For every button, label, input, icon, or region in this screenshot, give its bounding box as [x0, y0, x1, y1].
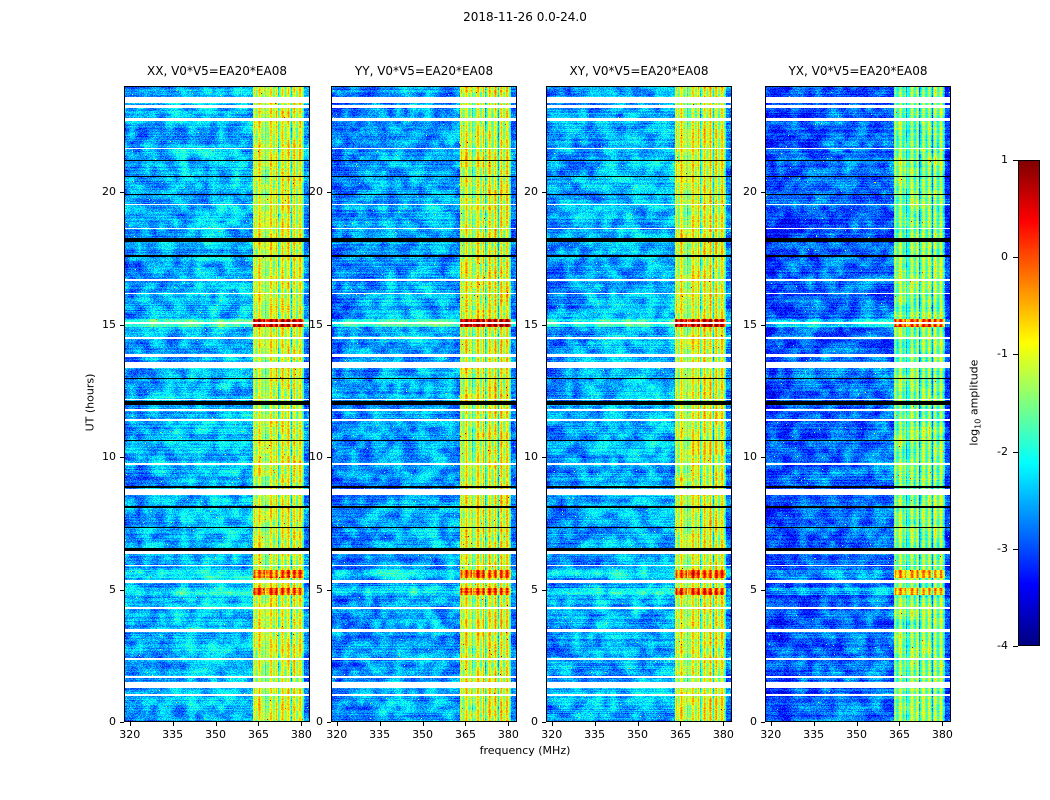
figure-canvas: 2018-11-26 0.0-24.0 XX, V0*V5=EA20*EA08 …	[0, 0, 1050, 800]
y-tick-mark	[120, 590, 124, 591]
x-tick-mark	[423, 722, 424, 726]
x-tick-mark	[216, 722, 217, 726]
x-tick-mark	[130, 722, 131, 726]
y-tick-label: 10	[506, 450, 538, 463]
x-tick-mark	[942, 722, 943, 726]
x-tick-label: 320	[110, 728, 150, 741]
panel-title-yy: YY, V0*V5=EA20*EA08	[331, 64, 517, 78]
heatmap-yx	[765, 86, 951, 722]
panel-title-xy: XY, V0*V5=EA20*EA08	[546, 64, 732, 78]
y-tick-mark	[327, 457, 331, 458]
y-tick-mark	[542, 192, 546, 193]
y-tick-label: 20	[506, 185, 538, 198]
colorbar-tick-label: -3	[972, 542, 1008, 555]
heatmap-xx	[124, 86, 310, 722]
y-tick-label: 5	[725, 583, 757, 596]
y-tick-label: 5	[506, 583, 538, 596]
colorbar-tick-label: -1	[972, 347, 1008, 360]
x-tick-mark	[337, 722, 338, 726]
y-tick-mark	[120, 192, 124, 193]
x-tick-mark	[857, 722, 858, 726]
colorbar-tick-label: -2	[972, 445, 1008, 458]
y-tick-label: 10	[84, 450, 116, 463]
y-tick-label: 0	[506, 715, 538, 728]
x-tick-label: 380	[281, 728, 321, 741]
x-tick-mark	[771, 722, 772, 726]
y-tick-mark	[120, 457, 124, 458]
colorbar-tick-label: -4	[972, 639, 1008, 652]
x-tick-mark	[552, 722, 553, 726]
colorbar-tick-label: 1	[972, 153, 1008, 166]
x-tick-label: 335	[153, 728, 193, 741]
panel-yx[interactable]: YX, V0*V5=EA20*EA08	[765, 86, 951, 722]
y-tick-label: 0	[291, 715, 323, 728]
x-tick-label: 350	[403, 728, 443, 741]
y-tick-label: 5	[84, 583, 116, 596]
y-tick-mark	[761, 457, 765, 458]
x-tick-label: 320	[317, 728, 357, 741]
y-tick-label: 0	[84, 715, 116, 728]
x-tick-label: 320	[532, 728, 572, 741]
x-tick-mark	[814, 722, 815, 726]
y-tick-mark	[542, 457, 546, 458]
x-tick-mark	[638, 722, 639, 726]
y-tick-mark	[761, 192, 765, 193]
y-tick-mark	[542, 722, 546, 723]
y-tick-label: 15	[84, 318, 116, 331]
x-tick-label: 350	[837, 728, 877, 741]
x-tick-label: 335	[360, 728, 400, 741]
x-tick-label: 365	[445, 728, 485, 741]
x-tick-label: 365	[879, 728, 919, 741]
panel-yy[interactable]: YY, V0*V5=EA20*EA08	[331, 86, 517, 722]
x-tick-label: 380	[703, 728, 743, 741]
y-tick-label: 15	[506, 318, 538, 331]
x-tick-label: 335	[794, 728, 834, 741]
y-tick-mark	[761, 722, 765, 723]
colorbar-tick-mark	[1013, 646, 1018, 647]
x-tick-mark	[173, 722, 174, 726]
x-tick-label: 335	[575, 728, 615, 741]
colorbar-tick-mark	[1013, 452, 1018, 453]
heatmap-xy	[546, 86, 732, 722]
y-tick-label: 15	[291, 318, 323, 331]
y-tick-mark	[761, 590, 765, 591]
y-tick-mark	[761, 325, 765, 326]
colorbar-tick-mark	[1013, 160, 1018, 161]
y-tick-mark	[542, 590, 546, 591]
x-tick-label: 380	[488, 728, 528, 741]
y-tick-label: 20	[291, 185, 323, 198]
y-tick-label: 15	[725, 318, 757, 331]
colorbar-tick-mark	[1013, 354, 1018, 355]
y-tick-label: 20	[725, 185, 757, 198]
panel-xy[interactable]: XY, V0*V5=EA20*EA08	[546, 86, 732, 722]
x-tick-label: 365	[238, 728, 278, 741]
y-tick-label: 10	[291, 450, 323, 463]
colorbar-gradient	[1018, 160, 1040, 646]
colorbar[interactable]	[1018, 160, 1040, 646]
x-tick-mark	[595, 722, 596, 726]
x-tick-mark	[258, 722, 259, 726]
heatmap-yy	[331, 86, 517, 722]
y-tick-mark	[327, 192, 331, 193]
panel-title-yx: YX, V0*V5=EA20*EA08	[765, 64, 951, 78]
x-tick-mark	[899, 722, 900, 726]
x-tick-label: 350	[618, 728, 658, 741]
x-tick-label: 320	[751, 728, 791, 741]
colorbar-tick-mark	[1013, 257, 1018, 258]
x-tick-label: 350	[196, 728, 236, 741]
figure-suptitle: 2018-11-26 0.0-24.0	[0, 10, 1050, 24]
colorbar-tick-label: 0	[972, 250, 1008, 263]
panel-title-xx: XX, V0*V5=EA20*EA08	[124, 64, 310, 78]
y-tick-mark	[120, 722, 124, 723]
y-tick-mark	[327, 590, 331, 591]
y-tick-label: 20	[84, 185, 116, 198]
y-tick-mark	[327, 325, 331, 326]
y-axis-label: UT (hours)	[84, 343, 97, 463]
y-tick-label: 5	[291, 583, 323, 596]
y-tick-mark	[327, 722, 331, 723]
x-tick-mark	[680, 722, 681, 726]
y-tick-label: 10	[725, 450, 757, 463]
x-tick-mark	[380, 722, 381, 726]
y-tick-mark	[120, 325, 124, 326]
y-tick-mark	[542, 325, 546, 326]
panel-xx[interactable]: XX, V0*V5=EA20*EA08	[124, 86, 310, 722]
x-tick-label: 365	[660, 728, 700, 741]
x-tick-mark	[465, 722, 466, 726]
x-tick-label: 380	[922, 728, 962, 741]
x-axis-label: frequency (MHz)	[0, 744, 1050, 757]
y-tick-label: 0	[725, 715, 757, 728]
colorbar-tick-mark	[1013, 549, 1018, 550]
